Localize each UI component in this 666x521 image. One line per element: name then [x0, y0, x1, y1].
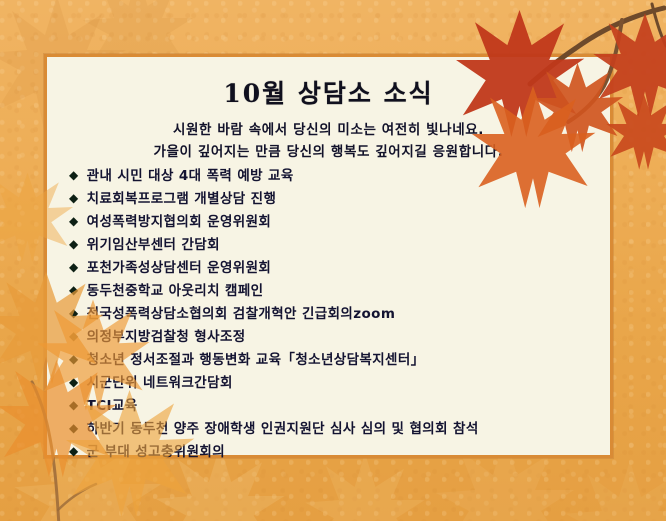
diamond-bullet-icon: ◆ [69, 307, 79, 319]
diamond-bullet-icon: ◆ [69, 261, 79, 273]
list-item-label: 관내 시민 대상 4대 폭력 예방 교육 [87, 170, 294, 184]
list-item: ◆ 하반기 동두천 양주 장애학생 인권지원단 심사 심의 및 협의회 참석 [69, 423, 594, 446]
list-item-label: 하반기 동두천 양주 장애학생 인권지원단 심사 심의 및 협의회 참석 [87, 423, 479, 437]
list-item: ◆ 전국성폭력상담소협의회 검찰개혁안 긴급회의zoom [69, 308, 594, 331]
subtitle-line-2: 가을이 깊어지는 만큼 당신의 행복도 깊어지길 응원합니다. [63, 143, 594, 163]
diamond-bullet-icon: ◆ [69, 353, 79, 365]
list-item: ◆ 의정부지방검찰청 형사조정 [69, 331, 594, 354]
diamond-bullet-icon: ◆ [69, 422, 79, 434]
diamond-bullet-icon: ◆ [69, 399, 79, 411]
list-item-label: 청소년 정서조절과 행동변화 교육「청소년상담복지센터」 [87, 354, 425, 368]
diamond-bullet-icon: ◆ [69, 192, 79, 204]
diamond-bullet-icon: ◆ [69, 330, 79, 342]
list-item: ◆ 군 부대 성고충위원회의 [69, 446, 594, 469]
list-item-label: 전국성폭력상담소협의회 검찰개혁안 긴급회의zoom [87, 308, 396, 322]
list-item-label: 위기임산부센터 간담회 [87, 239, 220, 253]
page-title: 10월 상담소 소식 [63, 74, 594, 110]
list-item: ◆ 관내 시민 대상 4대 폭력 예방 교육 [69, 170, 594, 193]
diamond-bullet-icon: ◆ [69, 445, 79, 457]
activity-list: ◆ 관내 시민 대상 4대 폭력 예방 교육 ◆ 치료회복프로그램 개별상담 진… [63, 170, 594, 469]
list-item-label: TCI교육 [87, 400, 138, 414]
list-item-label: 동두천중학교 아웃리치 캠페인 [87, 285, 264, 299]
list-item-label: 군 부대 성고충위원회의 [87, 446, 225, 460]
newsletter-poster: 10월 상담소 소식 시원한 바람 속에서 당신의 미소는 여전히 빛나네요. … [0, 0, 666, 521]
list-item-label: 여성폭력방지협의회 운영위원회 [87, 216, 272, 230]
diamond-bullet-icon: ◆ [69, 376, 79, 388]
list-item-label: 포천가족성상담센터 운영위원회 [87, 262, 272, 276]
subtitle-line-1: 시원한 바람 속에서 당신의 미소는 여전히 빛나네요. [63, 121, 594, 141]
list-item: ◆ 청소년 정서조절과 행동변화 교육「청소년상담복지센터」 [69, 354, 594, 377]
content-panel: 10월 상담소 소식 시원한 바람 속에서 당신의 미소는 여전히 빛나네요. … [44, 54, 613, 458]
list-item: ◆ 동두천중학교 아웃리치 캠페인 [69, 285, 594, 308]
diamond-bullet-icon: ◆ [69, 238, 79, 250]
diamond-bullet-icon: ◆ [69, 215, 79, 227]
list-item: ◆ TCI교육 [69, 400, 594, 423]
list-item: ◆ 치료회복프로그램 개별상담 진행 [69, 193, 594, 216]
list-item-label: 의정부지방검찰청 형사조정 [87, 331, 246, 345]
list-item: ◆ 포천가족성상담센터 운영위원회 [69, 262, 594, 285]
list-item: ◆ 위기임산부센터 간담회 [69, 239, 594, 262]
list-item-label: 시군단위 네트워크간담회 [87, 377, 233, 391]
list-item-label: 치료회복프로그램 개별상담 진행 [87, 193, 277, 207]
diamond-bullet-icon: ◆ [69, 169, 79, 181]
diamond-bullet-icon: ◆ [69, 284, 79, 296]
list-item: ◆ 여성폭력방지협의회 운영위원회 [69, 216, 594, 239]
list-item: ◆ 시군단위 네트워크간담회 [69, 377, 594, 400]
